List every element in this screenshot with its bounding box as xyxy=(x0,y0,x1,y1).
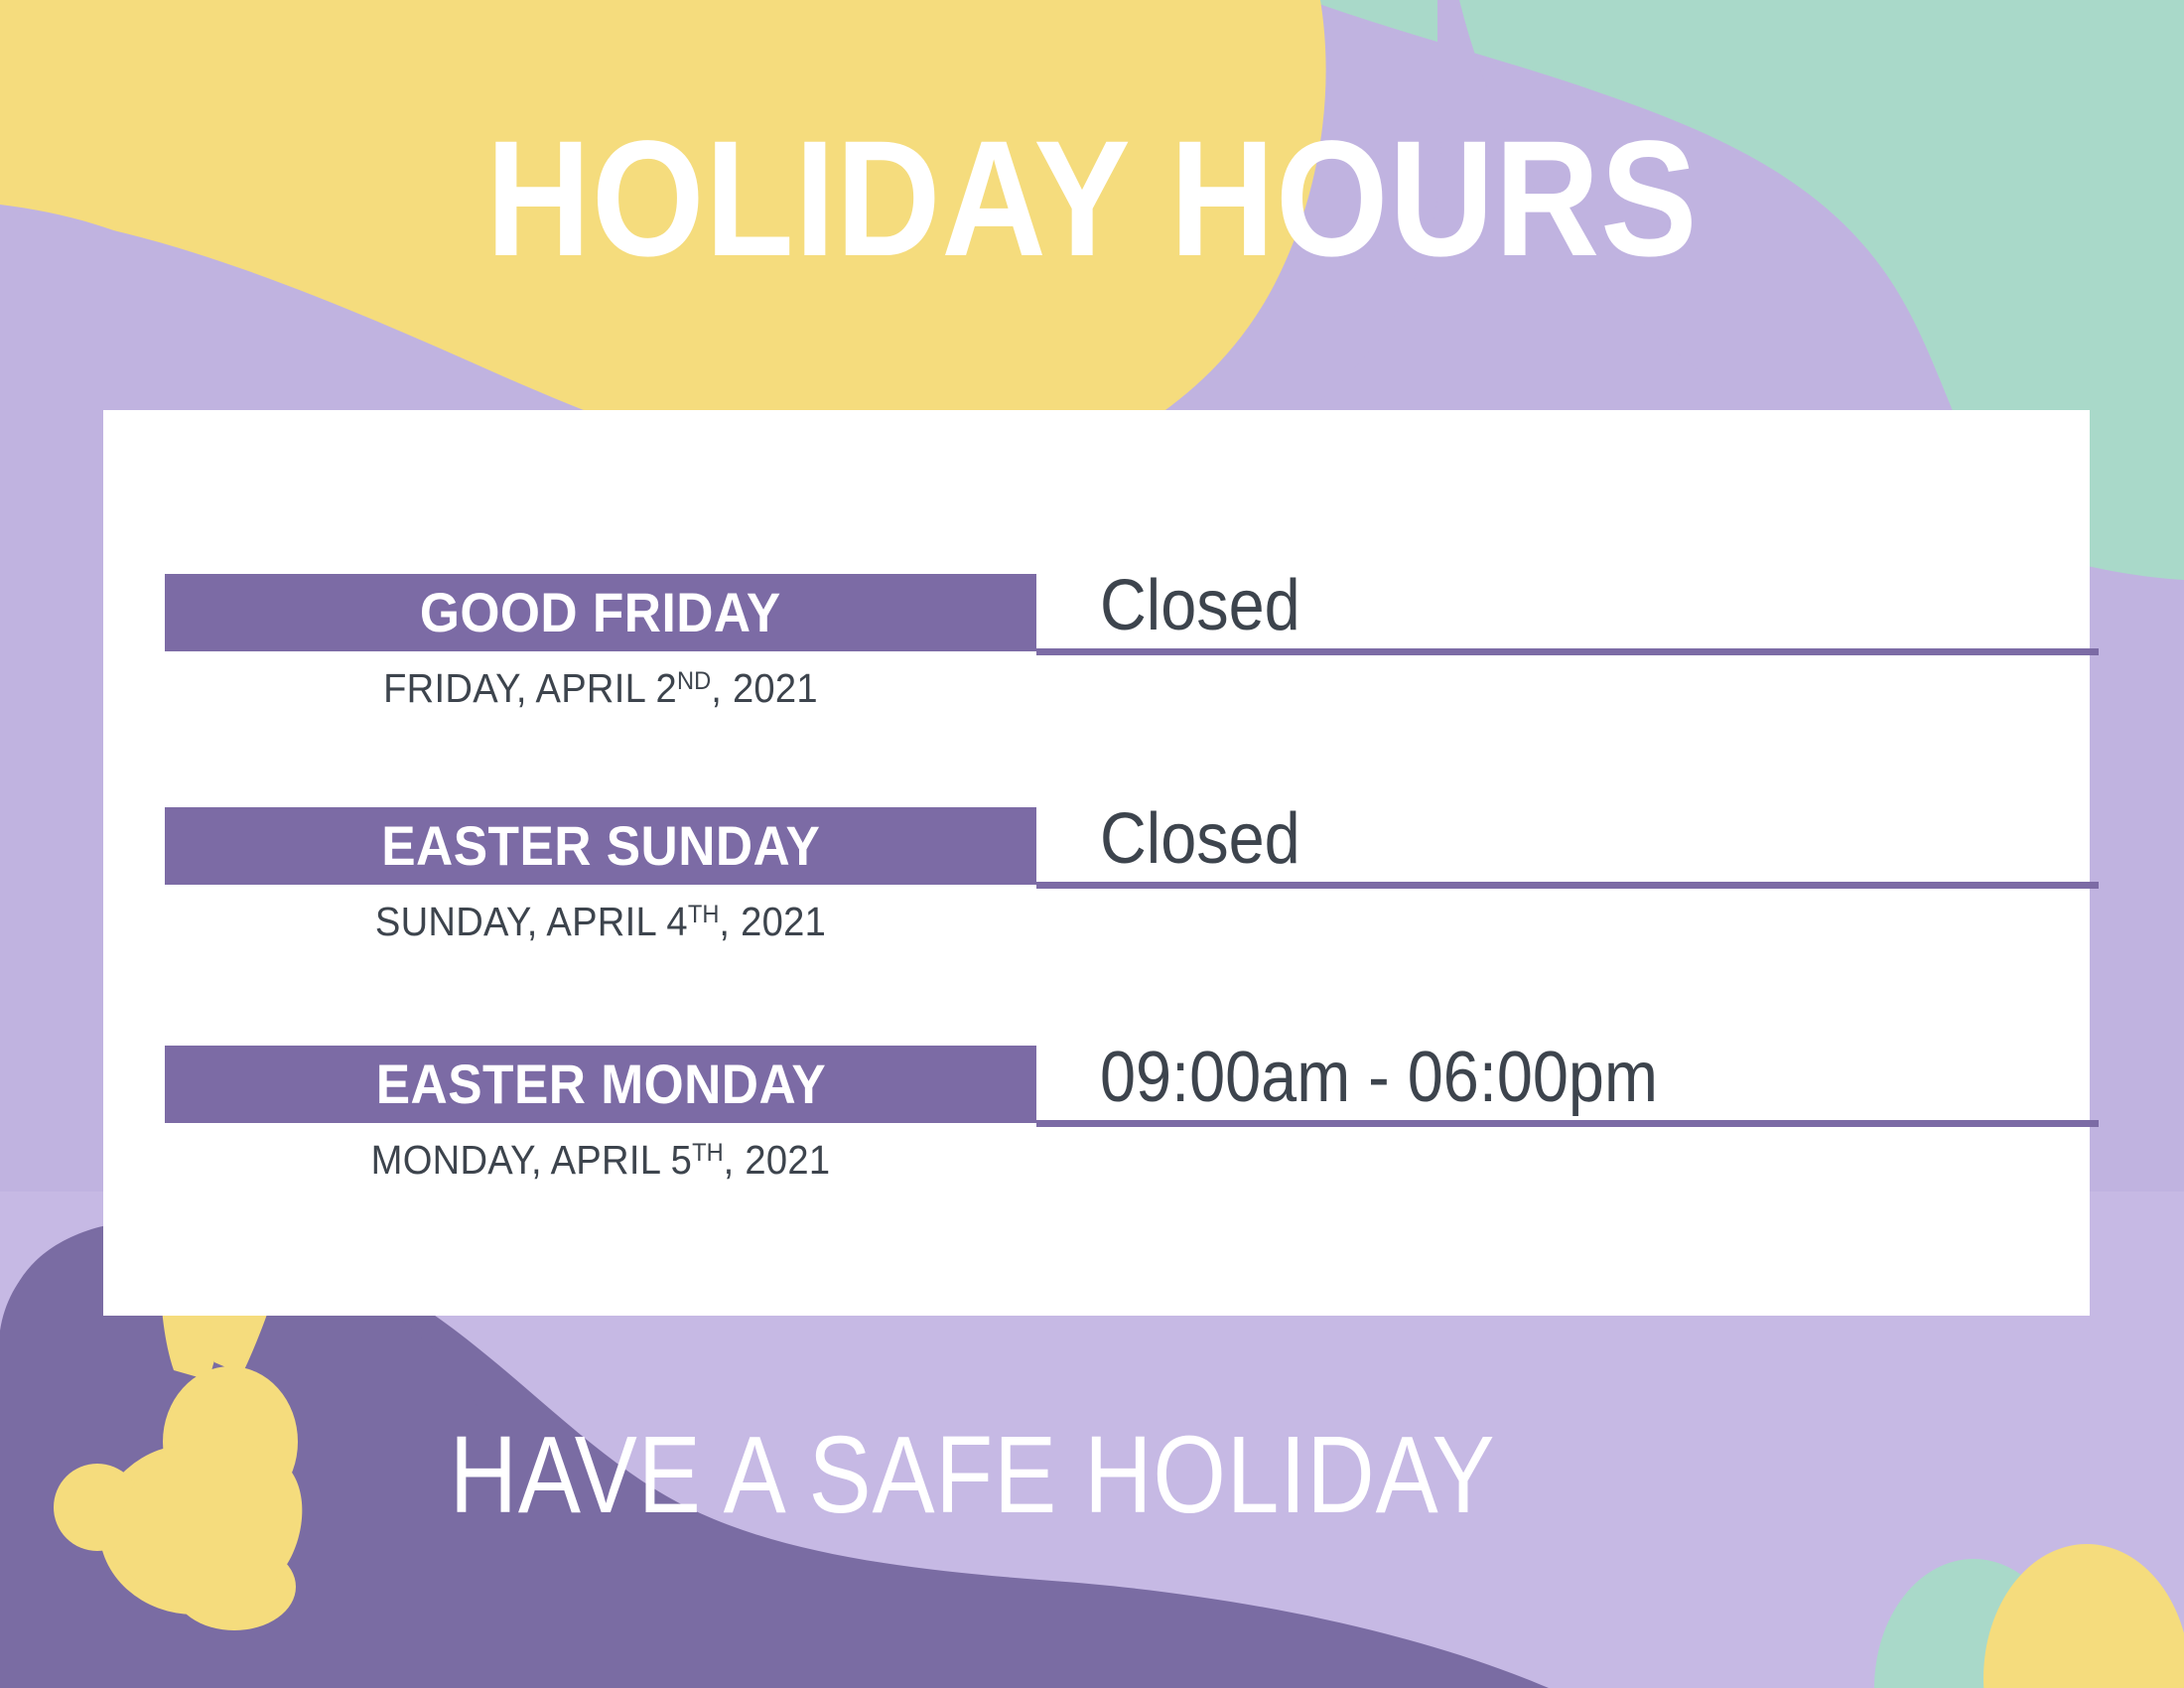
holiday-name: GOOD FRIDAY xyxy=(420,585,781,640)
holiday-date-ordinal: TH xyxy=(688,901,720,928)
holiday-date-suffix: , 2021 xyxy=(724,1137,831,1183)
holiday-hours-cell: Closed xyxy=(1036,552,2099,655)
holiday-name-bar: EASTER SUNDAY xyxy=(165,807,1036,885)
holiday-date-prefix: FRIDAY, APRIL 2 xyxy=(383,665,677,711)
holiday-date-suffix: , 2021 xyxy=(711,665,818,711)
holiday-name: EASTER MONDAY xyxy=(375,1056,826,1112)
holiday-hours: Closed xyxy=(1100,568,1300,643)
schedule-card: GOOD FRIDAY FRIDAY, APRIL 2ND, 2021 Clos… xyxy=(103,410,2090,1316)
holiday-hours: 09:00am - 06:00pm xyxy=(1100,1040,1658,1115)
holiday-date-ordinal: ND xyxy=(677,667,711,695)
holiday-date-prefix: MONDAY, APRIL 5 xyxy=(371,1137,692,1183)
holiday-date-prefix: SUNDAY, APRIL 4 xyxy=(375,899,688,944)
holiday-name-bar: EASTER MONDAY xyxy=(165,1046,1036,1123)
holiday-date-ordinal: TH xyxy=(692,1139,724,1167)
holiday-date-suffix: , 2021 xyxy=(719,899,826,944)
holiday-hours-cell: 09:00am - 06:00pm xyxy=(1036,1024,2099,1127)
page-title: HOLIDAY HOURS xyxy=(131,117,2053,282)
holiday-hours-poster: HOLIDAY HOURS GOOD FRIDAY FRIDAY, APRIL … xyxy=(0,0,2184,1688)
hours-underline xyxy=(1036,648,2099,655)
holiday-name: EASTER SUNDAY xyxy=(381,818,820,874)
hours-underline xyxy=(1036,1120,2099,1127)
holiday-hours-cell: Closed xyxy=(1036,785,2099,889)
holiday-date: MONDAY, APRIL 5TH, 2021 xyxy=(196,1129,1007,1184)
holiday-name-bar: GOOD FRIDAY xyxy=(165,574,1036,651)
holiday-date: SUNDAY, APRIL 4TH, 2021 xyxy=(196,891,1007,945)
hours-underline xyxy=(1036,882,2099,889)
footer-message-text: HAVE A SAFE HOLIDAY xyxy=(450,1418,1496,1533)
holiday-date: FRIDAY, APRIL 2ND, 2021 xyxy=(196,657,1007,712)
holiday-hours: Closed xyxy=(1100,801,1300,877)
footer-message: HAVE A SAFE HOLIDAY xyxy=(153,1418,2031,1533)
